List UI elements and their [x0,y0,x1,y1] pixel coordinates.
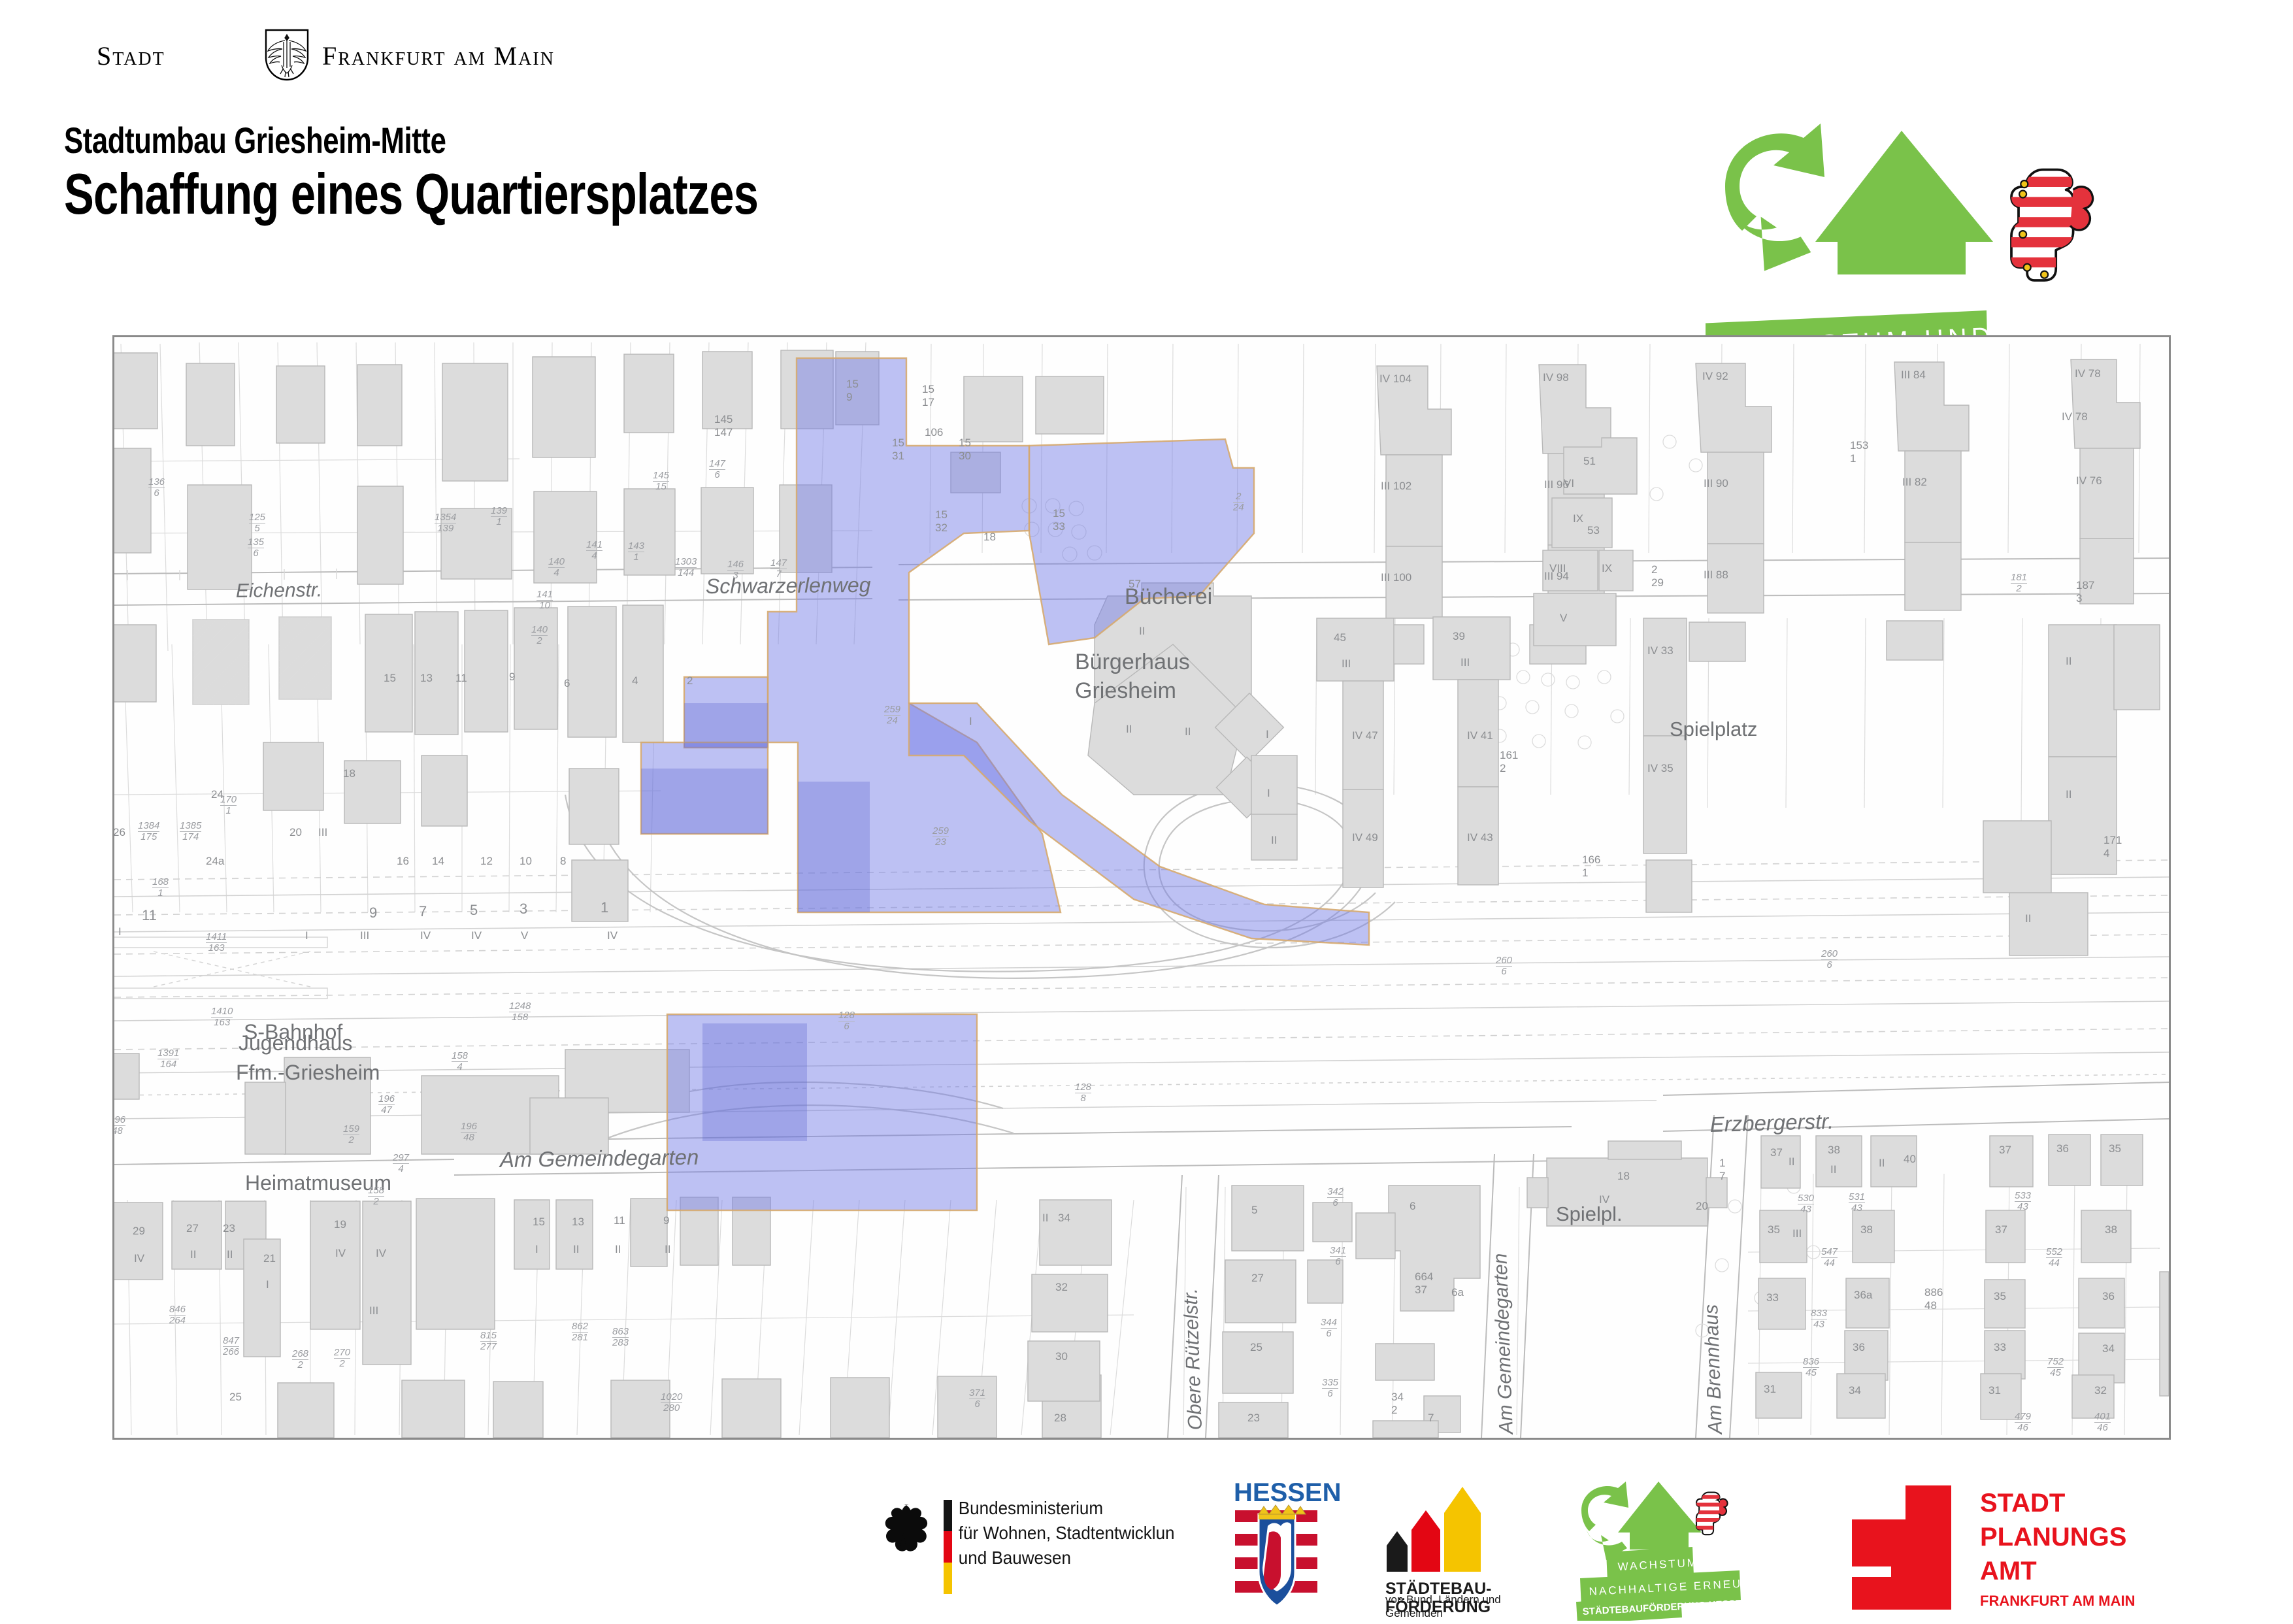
bmwsb-line3: und Bauwesen [959,1548,1071,1568]
bmwsb-logo: Bundesministerium für Wohnen, Stadtentwi… [861,1474,1175,1621]
place-label-spielplatz: Spielplatz [1670,718,1757,740]
house-number: 3 [520,901,527,918]
spa-line2: PLANUNGS [1980,1523,2126,1551]
city-of-frankfurt-logo: Stadt Frankfurt am Main [97,34,515,77]
place-label-ffm-griesheim: Ffm.-Griesheim [236,1061,380,1084]
hessen-logo: HESSEN [1212,1474,1342,1621]
house-number: 1 [601,899,608,916]
hessen-lion-crest-footer-icon [1696,1493,1729,1535]
street-label-obere-ruetzelstr: Obere Rützelstr. [1179,1288,1206,1431]
flag-black-bar [944,1500,952,1531]
stadtplanungsamt-logo: STADT PLANUNGS AMT FRANKFURT AM MAIN [1810,1474,2150,1621]
house-number: 5 [470,902,478,919]
map-vector-layer: Eichenstr. Schwarzerlenweg Am Gemeindega… [114,337,2169,1438]
bundesadler-icon [885,1505,927,1551]
staedtebaufoerderung-logo: STÄDTEBAU- FÖRDERUNG von Bund, Ländern u… [1372,1474,1542,1621]
staedtebau-sub1: von Bund, Ländern und [1385,1593,1501,1606]
hessen-state-crest-icon [1235,1505,1317,1606]
bmwsb-line1: Bundesministerium [959,1498,1103,1518]
page-header: Stadt Frankfurt am Main Stadtumbau Gries… [0,0,2293,327]
hessen-lion-crest-icon [2011,170,2098,280]
spa-mark-icon [1852,1485,1951,1610]
street-label-erzbergerstr: Erzbergerstr. [1709,1109,1834,1136]
project-eyebrow: Stadtumbau Griesheim-Mitte [64,119,446,161]
place-label-jugendhaus: Jugendhaus [239,1031,352,1055]
street-label-eichenstr: Eichenstr. [236,579,323,602]
staedtebau-sub2: Gemeinden [1385,1606,1501,1620]
map-canvas: Eichenstr. Schwarzerlenweg Am Gemeindega… [114,337,2169,1438]
staedtebau-houses-icon [1387,1487,1481,1572]
frankfurt-eagle-crest-icon [263,27,310,81]
program-logo-footer: WACHSTUM UND NACHHALTIGE ERNEUERUNG STÄD… [1567,1474,1783,1621]
page-footer: Bundesministerium für Wohnen, Stadtentwi… [0,1474,2293,1621]
place-label-buergerhaus: Bürgerhaus [1075,650,1190,674]
flag-gold-bar [944,1563,952,1594]
city-logo-text-right: Frankfurt am Main [322,41,555,71]
street-label-am-brennhaus: Am Brennhaus [1700,1304,1726,1435]
spa-line3: AMT [1980,1557,2037,1585]
spa-line1: STADT [1980,1489,2065,1517]
bmwsb-line2: für Wohnen, Stadtentwicklung [959,1523,1175,1543]
flag-red-bar [944,1531,952,1563]
house-number: 7 [419,903,427,920]
page-title: Schaffung eines Quartiersplatzes [64,161,758,227]
place-label-griesheim: Griesheim [1075,678,1176,703]
house-number: 9 [369,904,377,921]
street-label-am-gemeindegarten-vertical: Am Gemeindegarten [1489,1253,1517,1436]
spa-line4: FRANKFURT AM MAIN [1980,1593,2135,1609]
city-logo-text-left: Stadt [97,41,165,71]
place-label-spielpl: Spielpl. [1556,1202,1623,1225]
cadastral-map[interactable]: Eichenstr. Schwarzerlenweg Am Gemeindega… [112,335,2171,1440]
hessen-wordmark: HESSEN [1234,1478,1342,1507]
house-number: 11 [142,907,157,924]
street-label-am-gemeindegarten: Am Gemeindegarten [499,1145,699,1172]
